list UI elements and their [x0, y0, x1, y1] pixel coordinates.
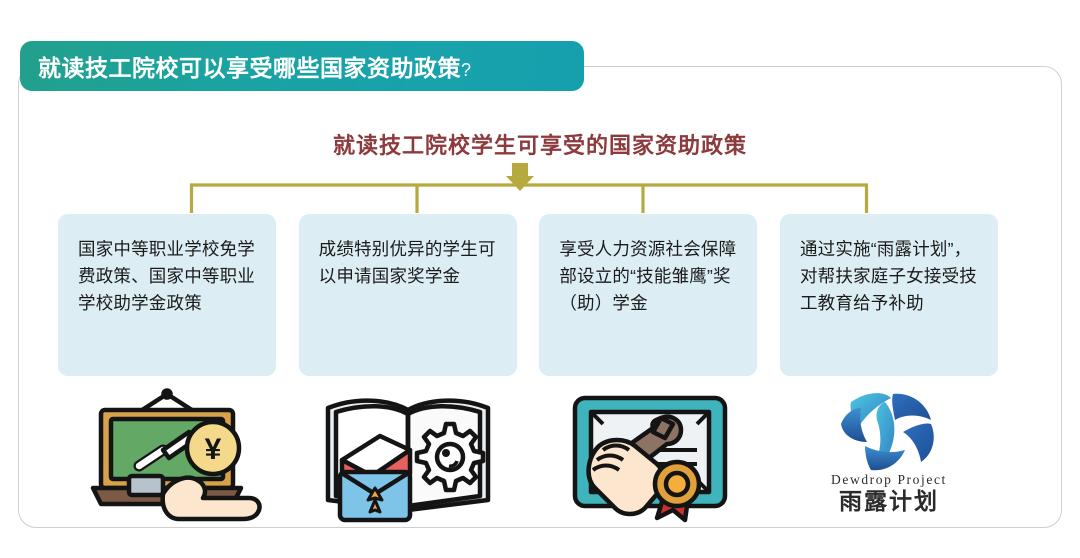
- policy-card: 成绩特别优异的学生可以申请国家奖学金: [299, 214, 517, 376]
- header-banner-question-mark: ?: [461, 60, 472, 80]
- certificate-wrench-hand-icon: [553, 388, 743, 523]
- icon-cell-2: [299, 388, 517, 528]
- icon-list: ¥: [58, 388, 998, 528]
- logo-english-text: Dewdrop Project: [831, 472, 947, 488]
- policy-card-text: 通过实施“雨露计划”，对帮扶家庭子女接受技工教育给予补助: [800, 236, 984, 317]
- policy-card-text: 国家中等职业学校免学费政策、国家中等职业学校助学金政策: [78, 236, 262, 317]
- policy-card-list: 国家中等职业学校免学费政策、国家中等职业学校助学金政策 成绩特别优异的学生可以申…: [58, 214, 998, 376]
- header-banner-label: 就读技工院校可以享受哪些国家资助政策?: [38, 49, 472, 83]
- header-banner-question-text: 就读技工院校可以享受哪些国家资助政策: [38, 55, 461, 81]
- policy-card-text: 享受人力资源社会保障部设立的“技能雏鹰”奖（助）学金: [559, 236, 743, 317]
- icon-cell-3: [539, 388, 757, 528]
- connector-bracket: [0, 163, 1080, 218]
- infographic-root: 就读技工院校可以享受哪些国家资助政策? 就读技工院校学生可享受的国家资助政策 国…: [0, 0, 1080, 558]
- dewdrop-emblem-icon: [835, 388, 943, 474]
- page-title: 就读技工院校学生可享受的国家资助政策: [0, 128, 1080, 160]
- icon-cell-4: Dewdrop Project 雨露计划: [780, 388, 998, 528]
- policy-card: 国家中等职业学校免学费政策、国家中等职业学校助学金政策: [58, 214, 276, 376]
- open-book-gear-graduation-icon: [318, 388, 498, 523]
- award-seal-icon: [655, 462, 699, 520]
- gear-icon: [417, 424, 483, 490]
- header-banner: 就读技工院校可以享受哪些国家资助政策?: [20, 41, 584, 91]
- blackboard-screwdriver-yen-hand-icon: ¥: [67, 388, 267, 523]
- envelope-icon: [340, 472, 410, 520]
- svg-text:¥: ¥: [205, 433, 222, 466]
- policy-card: 通过实施“雨露计划”，对帮扶家庭子女接受技工教育给予补助: [780, 214, 998, 376]
- logo-chinese-text: 雨露计划: [839, 489, 939, 514]
- icon-cell-1: ¥: [58, 388, 276, 528]
- connector-svg: [0, 163, 1080, 218]
- yen-coin-icon: ¥: [187, 422, 239, 474]
- down-arrow-icon: [506, 163, 534, 191]
- policy-card: 享受人力资源社会保障部设立的“技能雏鹰”奖（助）学金: [539, 214, 757, 376]
- dewdrop-project-logo: Dewdrop Project 雨露计划: [831, 388, 947, 514]
- policy-card-text: 成绩特别优异的学生可以申请国家奖学金: [319, 236, 503, 290]
